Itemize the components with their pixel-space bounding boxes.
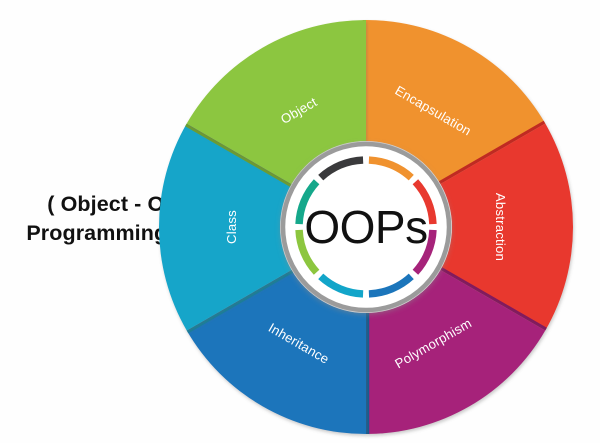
petal-label-abstraction: Abstraction: [493, 193, 508, 261]
petal-edge-shade: [366, 313, 369, 434]
diagram-canvas: ( Object - Oriented Programming System) …: [0, 0, 600, 443]
center-label: OOPs: [304, 201, 427, 253]
oops-pinwheel-diagram: OOPsEncapsulationAbstractionPolymorphism…: [0, 0, 600, 443]
petal-label-class: Class: [224, 210, 239, 244]
